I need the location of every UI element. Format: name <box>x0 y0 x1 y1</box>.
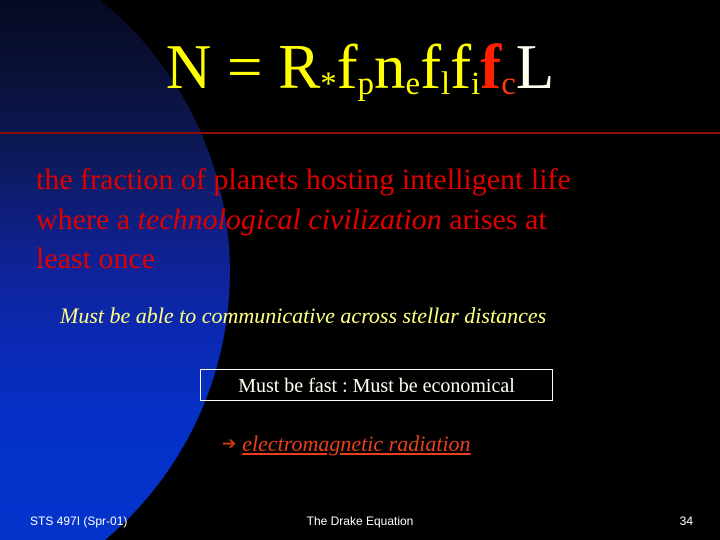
equation-term-ne-sub: e <box>406 66 421 102</box>
definition-emphasis-technological-civilization: technological civilization <box>138 203 442 236</box>
equation-term-ne: ne <box>374 32 420 102</box>
equation-term-fi: fi <box>450 32 480 102</box>
equation-term-fc-highlighted: fc <box>480 32 516 102</box>
definition-line-3: least once <box>36 242 155 275</box>
equation-lead: N = R* <box>166 32 337 102</box>
definition-line-1: the fraction of planets hosting intellig… <box>36 163 571 196</box>
equation-term-fp-sub: p <box>358 66 374 102</box>
equation-term-fi-sub: i <box>471 66 480 102</box>
equation-term-fl-base: f <box>420 32 441 102</box>
boxed-constraint-statement: Must be fast : Must be economical <box>200 369 553 401</box>
equation-lead-subscript: * <box>320 66 336 102</box>
slide-title-equation: N = R*fpneflfifcL <box>0 36 720 99</box>
footer-slide-topic: The Drake Equation <box>0 514 720 528</box>
equation-term-fp-base: f <box>337 32 358 102</box>
equation-term-L: L <box>516 32 554 102</box>
conclusion-bullet: ➔electromagnetic radiation <box>222 431 471 457</box>
footer-slide-number: 34 <box>680 514 693 528</box>
equation-term-fc-base: f <box>480 32 501 102</box>
presentation-slide: N = R*fpneflfifcL the fraction of planet… <box>0 0 720 540</box>
definition-line-2-prefix: where a <box>36 203 138 236</box>
title-divider-rule <box>0 132 720 134</box>
equation-term-ne-base: n <box>374 32 406 102</box>
equation-term-fl-sub: l <box>441 66 450 102</box>
definition-paragraph: the fraction of planets hosting intellig… <box>36 160 700 279</box>
equation-lead-text: N = R <box>166 32 321 102</box>
definition-line-2-suffix: arises at <box>442 203 547 236</box>
equation-term-fp: fp <box>337 32 374 102</box>
equation-term-fc-sub: c <box>501 66 516 102</box>
conclusion-label: electromagnetic radiation <box>242 431 470 456</box>
equation-term-fi-base: f <box>450 32 471 102</box>
equation-term-fl: fl <box>420 32 450 102</box>
arrow-right-icon: ➔ <box>222 434 236 454</box>
requirement-statement: Must be able to communicative across ste… <box>60 303 710 329</box>
